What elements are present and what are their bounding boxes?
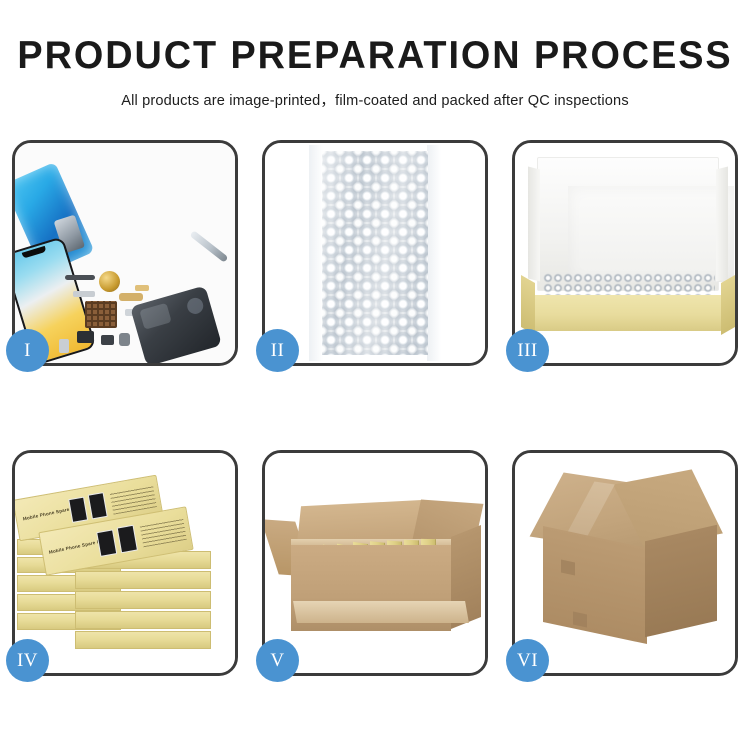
flex-cable-part (119, 293, 143, 301)
retail-box (75, 631, 211, 649)
page-subtitle: All products are image-printed，film-coat… (0, 89, 750, 110)
flex-cable-part (65, 275, 95, 280)
box-spec-lines (140, 518, 187, 547)
box-spec-lines (110, 485, 157, 514)
screwdriver-tool (190, 230, 229, 263)
chip-grid-part (85, 301, 117, 328)
white-box-lid (537, 157, 719, 291)
small-component-part (77, 331, 94, 343)
step-panel-1: I (12, 140, 238, 366)
step-panel-3: III (512, 140, 738, 366)
step-image-6 (515, 453, 735, 673)
box-screen-graphic (68, 497, 88, 523)
step-badge-3: III (506, 329, 549, 372)
step-panel-6: VI (512, 450, 738, 676)
small-component-part (119, 333, 130, 346)
phone-back-housing (130, 285, 222, 363)
retail-box (75, 571, 211, 589)
header: PRODUCT PREPARATION PROCESS All products… (0, 0, 750, 110)
notch-icon (22, 246, 47, 259)
foam-insert (568, 186, 734, 282)
page-title: PRODUCT PREPARATION PROCESS (11, 34, 739, 78)
retail-box-stack: Mobile Phone Spare Parts Mobile Phone Sp… (15, 453, 235, 673)
vibration-motor-part (99, 271, 120, 292)
wrap-edge-left (309, 145, 323, 361)
step-panel-4: Mobile Phone Spare Parts Mobile Phone Sp… (12, 450, 238, 676)
step-image-5 (265, 453, 485, 673)
retail-box (75, 591, 211, 609)
kraft-box-base (533, 295, 723, 331)
bubble-wrap-package (322, 151, 428, 355)
step-image-4: Mobile Phone Spare Parts Mobile Phone Sp… (15, 453, 235, 673)
carton-tab-mark (573, 612, 587, 628)
step-panel-2: II (262, 140, 488, 366)
step-badge-6: VI (506, 639, 549, 682)
retail-box (75, 611, 211, 629)
step-badge-2: II (256, 329, 299, 372)
small-component-part (59, 339, 69, 353)
box-screen-graphic (117, 525, 138, 554)
small-component-part (101, 335, 114, 345)
box-screen-graphic (88, 492, 108, 519)
small-component-part (135, 285, 149, 291)
carton-side-face (645, 525, 717, 638)
step-badge-4: IV (6, 639, 49, 682)
wrap-edge-right (427, 145, 441, 361)
step-badge-5: V (256, 639, 299, 682)
step-panel-5: V (262, 450, 488, 676)
step-image-2 (265, 143, 485, 363)
plastic-sheen (322, 151, 428, 355)
step-image-3 (515, 143, 735, 363)
carton-flap-front (293, 601, 469, 623)
sealed-carton (515, 453, 735, 673)
box-screen-graphic (96, 529, 117, 557)
product-preparation-infographic: PRODUCT PREPARATION PROCESS All products… (0, 0, 750, 750)
process-step-grid: I II III (12, 140, 738, 676)
carton-tab-mark (561, 560, 575, 576)
step-image-1 (15, 143, 235, 363)
step-badge-1: I (6, 329, 49, 372)
flex-cable-part (73, 291, 95, 297)
